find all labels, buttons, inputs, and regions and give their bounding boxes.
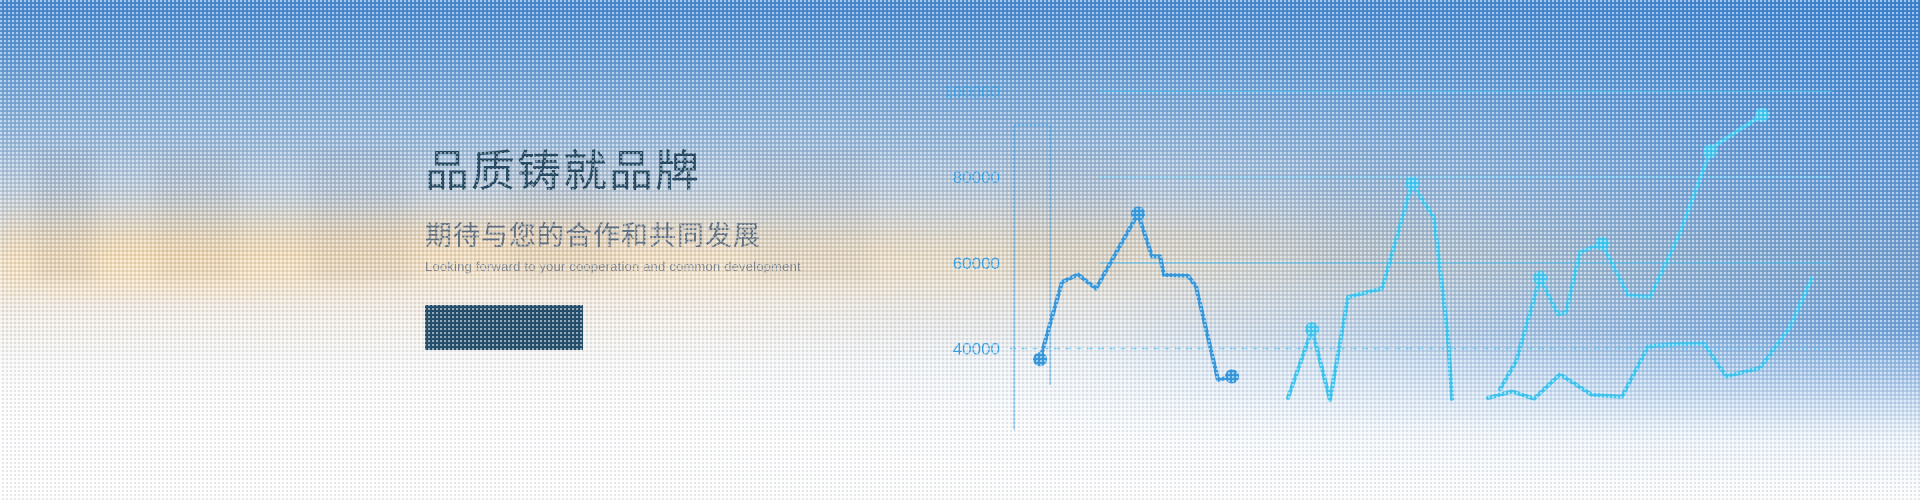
line-chart: 400006000080000100000 (0, 0, 1920, 500)
chart-line-series-2 (1288, 184, 1452, 400)
chart-data-point (1033, 352, 1047, 366)
cta-button[interactable] (425, 305, 583, 350)
y-tick-label: 40000 (953, 340, 1000, 359)
chart-series (1033, 108, 1812, 400)
chart-data-point (1755, 108, 1769, 122)
hero-copy: 品质铸就品牌 期待与您的合作和共同发展 Looking forward to y… (425, 146, 801, 274)
chart-data-point (1595, 237, 1609, 251)
chart-axis-box (1014, 125, 1050, 430)
chart-data-point (1225, 369, 1239, 383)
y-tick-label: 80000 (953, 168, 1000, 187)
page-title: 品质铸就品牌 (425, 146, 801, 198)
chart-data-point (1405, 177, 1419, 191)
chart-data-point (1305, 322, 1319, 336)
chart-data-point (1131, 207, 1145, 221)
page-subtitle: 期待与您的合作和共同发展 (425, 214, 801, 253)
page-subtitle-en: Looking forward to your cooperation and … (425, 259, 801, 274)
chart-data-point (1533, 271, 1547, 285)
y-tick-label: 100000 (943, 82, 1000, 101)
chart-line-series-1 (1040, 214, 1232, 380)
hero-banner: 400006000080000100000 品质铸就品牌 期待与您的合作和共同发… (0, 0, 1920, 500)
y-tick-label: 60000 (953, 254, 1000, 273)
chart-svg: 400006000080000100000 (0, 0, 1920, 500)
chart-y-axis-labels: 400006000080000100000 (943, 82, 1000, 358)
chart-data-point (1703, 144, 1717, 158)
